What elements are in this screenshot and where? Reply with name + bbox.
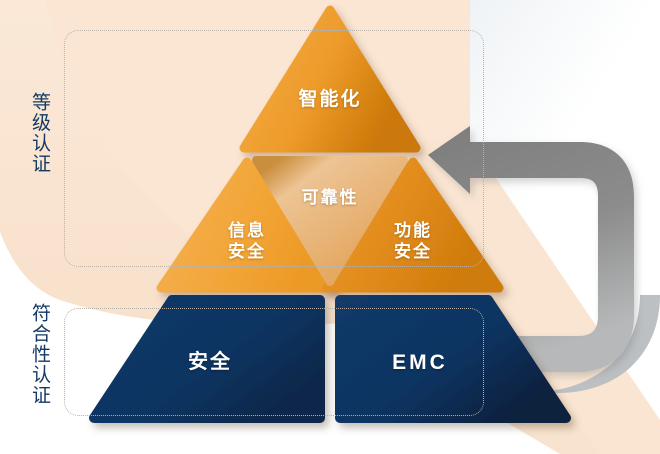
pyramid-graphic	[0, 0, 660, 454]
pyramid-node-top[interactable]	[244, 10, 416, 148]
side-label-compliance-certification: 符合性认证	[30, 303, 49, 406]
diagram-canvas: 等级认证 符合性认证 智能化 可靠性 信息 安全 功能 安全 安全 EMC	[0, 0, 660, 454]
pyramid-node-base-right[interactable]	[340, 300, 566, 418]
pyramid-node-base-left[interactable]	[94, 300, 320, 418]
side-label-grade-certification: 等级认证	[30, 92, 49, 174]
